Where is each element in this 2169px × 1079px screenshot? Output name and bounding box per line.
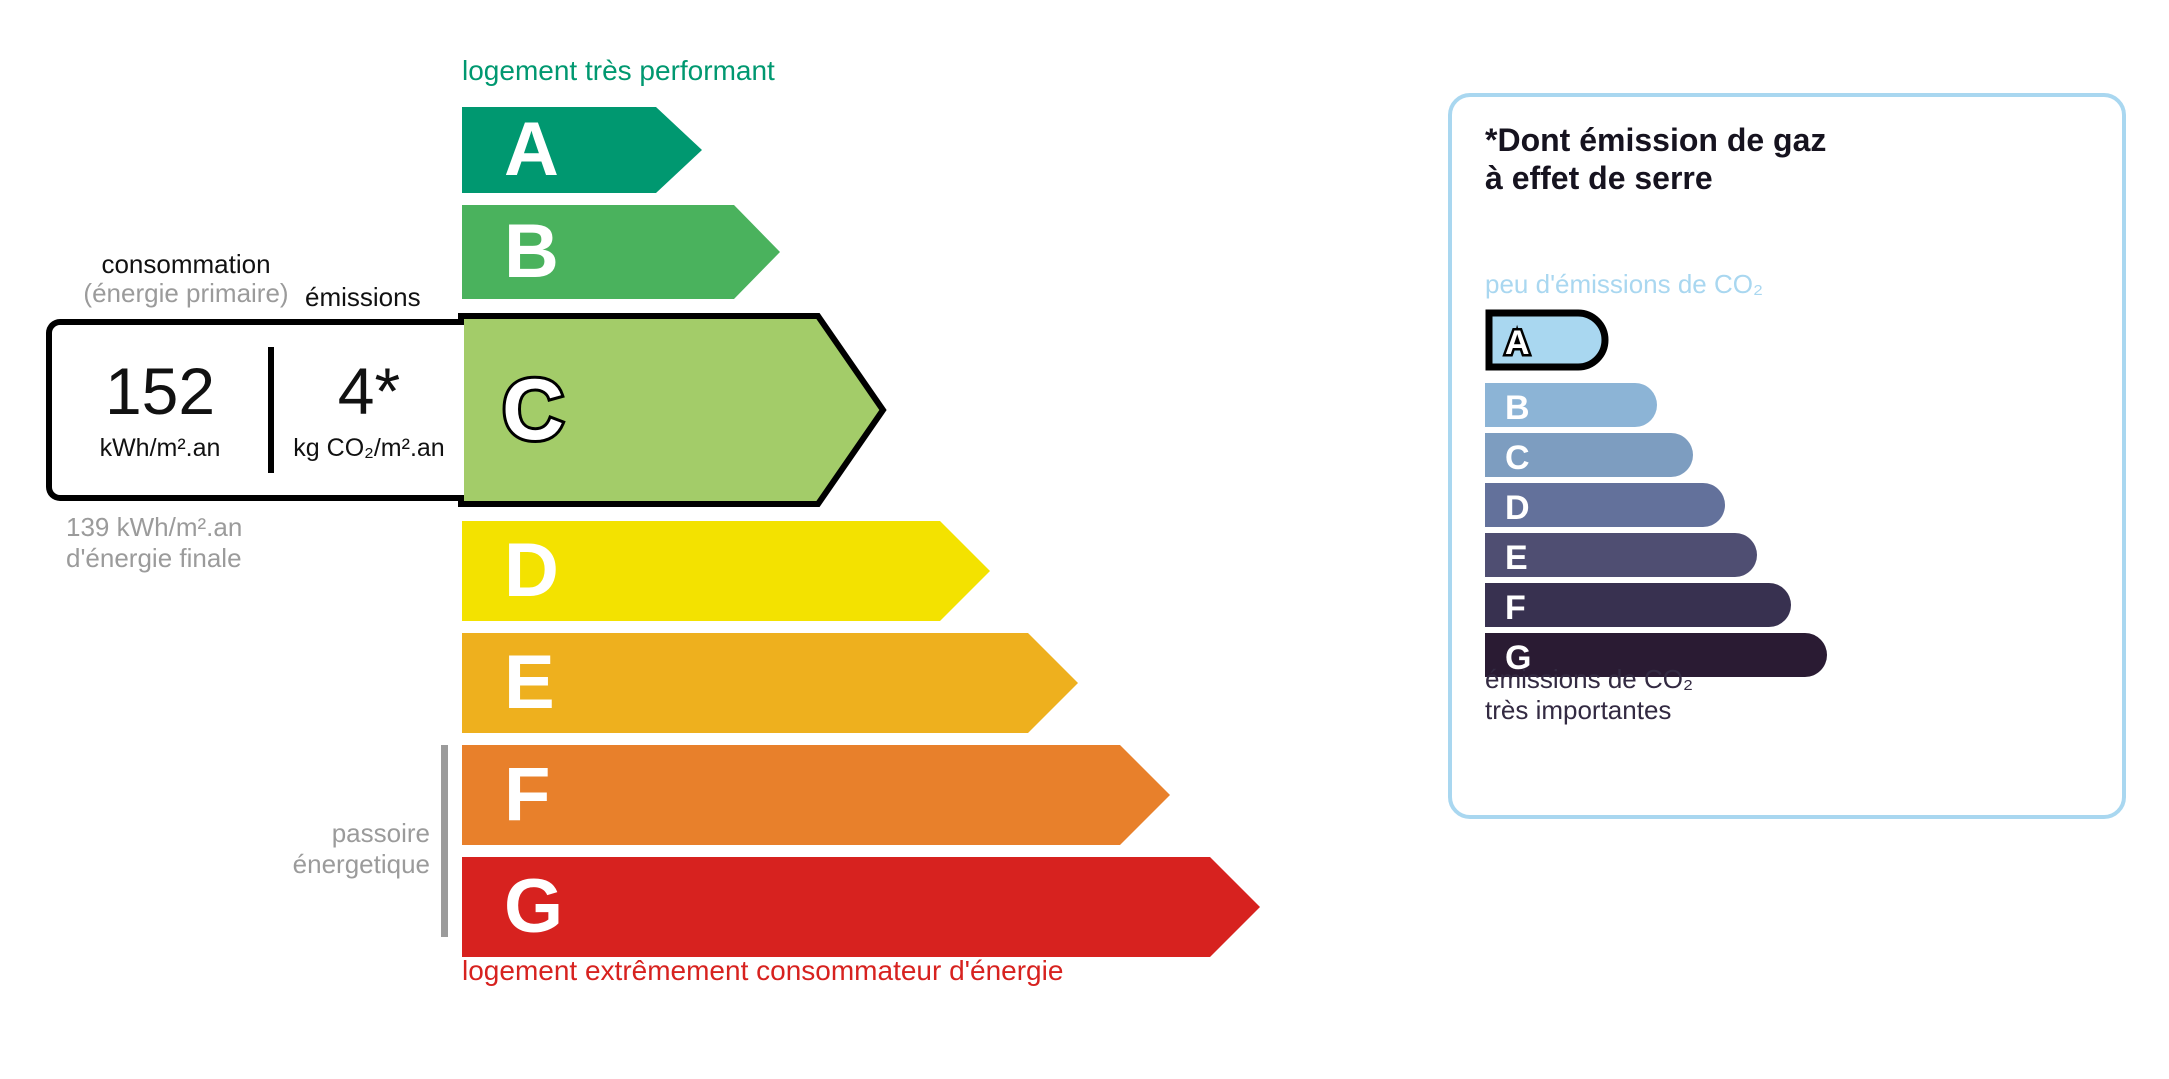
ges-bar-d[interactable]: D — [1485, 483, 1725, 532]
energy-scale: logement très performant A B C D E F — [0, 0, 1400, 1079]
ges-title-line2: à effet de serre — [1485, 160, 1826, 198]
consumption-value-cell: 152 kWh/m².an — [52, 325, 268, 495]
ges-bar-a-letter: A — [1505, 326, 1530, 360]
final-energy-line1: 139 kWh/m².an — [66, 512, 242, 543]
ges-bar-a[interactable]: A — [1485, 309, 1609, 376]
band-a[interactable]: A — [462, 107, 702, 193]
value-box: 152 kWh/m².an 4* kg CO₂/m².an — [46, 319, 464, 501]
scale-bottom-caption: logement extrêmement consommateur d'éner… — [462, 955, 1063, 987]
ges-bar-b-letter: B — [1505, 391, 1530, 425]
dpe-diagram: logement très performant A B C D E F — [0, 0, 2169, 1079]
ges-bottom-line1: émissions de CO₂ — [1485, 664, 1693, 695]
ges-bar-e[interactable]: E — [1485, 533, 1757, 582]
emissions-label: émissions — [305, 282, 421, 313]
emission-unit: kg CO₂/m².an — [293, 434, 444, 463]
band-c[interactable]: C — [458, 313, 886, 507]
ges-bottom-caption: émissions de CO₂ très importantes — [1485, 664, 1693, 725]
ges-title: *Dont émission de gaz à effet de serre — [1485, 122, 1826, 198]
consumption-value: 152 — [105, 358, 215, 424]
ges-bar-b[interactable]: B — [1485, 383, 1657, 432]
final-energy-label: 139 kWh/m².an d'énergie finale — [66, 512, 242, 574]
consumption-unit: kWh/m².an — [100, 434, 221, 463]
emission-value: 4* — [338, 358, 400, 424]
band-b-letter: B — [504, 214, 559, 290]
ges-bottom-line2: très importantes — [1485, 695, 1693, 726]
ges-bar-f-letter: F — [1505, 591, 1526, 625]
passoire-line2: énergetique — [210, 849, 430, 880]
consumption-label-sub: (énergie primaire) — [66, 279, 306, 308]
ges-bar-e-letter: E — [1505, 541, 1528, 575]
ges-top-caption: peu d'émissions de CO₂ — [1485, 269, 1763, 300]
consumption-label-main: consommation — [101, 249, 270, 279]
band-d[interactable]: D — [462, 521, 990, 621]
consumption-label: consommation (énergie primaire) — [66, 250, 306, 308]
band-a-letter: A — [504, 112, 559, 188]
final-energy-line2: d'énergie finale — [66, 543, 242, 574]
ges-panel: *Dont émission de gaz à effet de serre p… — [1448, 93, 2126, 819]
band-g-letter: G — [504, 869, 563, 945]
passoire-label: passoire énergetique — [210, 818, 430, 880]
band-e[interactable]: E — [462, 633, 1078, 733]
emission-value-cell: 4* kg CO₂/m².an — [274, 325, 464, 495]
band-f-letter: F — [504, 757, 550, 833]
band-d-letter: D — [504, 533, 559, 609]
scale-top-caption: logement très performant — [462, 55, 775, 87]
band-f[interactable]: F — [462, 745, 1170, 845]
band-e-letter: E — [504, 645, 555, 721]
ges-bar-d-letter: D — [1505, 491, 1530, 525]
ges-bar-c[interactable]: C — [1485, 433, 1693, 482]
band-b[interactable]: B — [462, 205, 780, 299]
passoire-line1: passoire — [210, 818, 430, 849]
passoire-marker — [441, 745, 448, 937]
band-c-letter: C — [502, 367, 564, 453]
ges-bar-c-letter: C — [1505, 441, 1530, 475]
band-g[interactable]: G — [462, 857, 1260, 957]
ges-title-line1: *Dont émission de gaz — [1485, 122, 1826, 160]
ges-bar-f[interactable]: F — [1485, 583, 1791, 632]
